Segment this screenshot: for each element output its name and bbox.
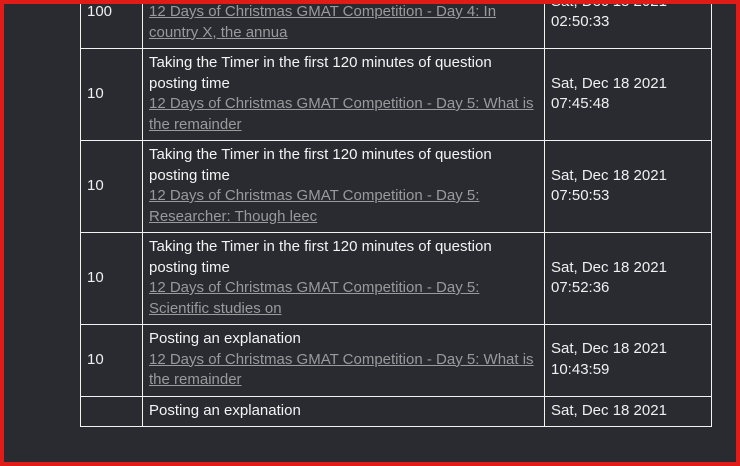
table-row: 10 Taking the Timer in the first 120 min…	[81, 233, 712, 325]
date-line-time: 07:45:48	[551, 94, 705, 115]
points-history-table-body: 4: The consumption of oil 02:40:00 100 G…	[81, 4, 712, 427]
cell-activity: Taking the Timer in the first 120 minute…	[143, 49, 545, 141]
activity-title: Taking the Timer in the first 120 minute…	[149, 53, 538, 94]
date-line-primary: Sat, Dec 18 2021	[551, 166, 705, 187]
points-history-table: 4: The consumption of oil 02:40:00 100 G…	[80, 4, 712, 427]
cell-activity: Taking the Timer in the first 120 minute…	[143, 141, 545, 233]
cell-points: 10	[81, 141, 143, 233]
date-line-primary: Sat, Dec 18 2021	[551, 339, 705, 360]
cell-activity: Posting an explanation	[143, 396, 545, 427]
activity-title: Taking the Timer in the first 120 minute…	[149, 237, 538, 278]
date-line-time: 07:52:36	[551, 278, 705, 299]
cell-date: Sat, Dec 18 2021 10:43:59	[545, 325, 712, 397]
activity-title: Posting an explanation	[149, 401, 538, 422]
date-line-time: 10:43:59	[551, 360, 705, 381]
date-line-primary: Sat, Dec 18 2021	[551, 258, 705, 279]
cell-activity: Getting a Kudos from a moderator 12 Days…	[143, 4, 545, 49]
table-row: 10 Taking the Timer in the first 120 min…	[81, 141, 712, 233]
cell-points: 10	[81, 233, 143, 325]
date-line-primary: Sat, Dec 18 2021	[551, 4, 705, 12]
cell-date: Sat, Dec 18 2021	[545, 396, 712, 427]
activity-link[interactable]: 12 Days of Christmas GMAT Competition - …	[149, 186, 538, 227]
date-line-primary: Sat, Dec 18 2021	[551, 401, 705, 422]
cell-date: Sat, Dec 18 2021 02:50:33	[545, 4, 712, 49]
activity-link[interactable]: 12 Days of Christmas GMAT Competition - …	[149, 350, 538, 391]
cell-points: 100	[81, 4, 143, 49]
date-line-time: 02:50:33	[551, 12, 705, 33]
cell-date: Sat, Dec 18 2021 07:45:48	[545, 49, 712, 141]
activity-title: Taking the Timer in the first 120 minute…	[149, 145, 538, 186]
page-content: 4: The consumption of oil 02:40:00 100 G…	[4, 4, 736, 462]
date-line-time: 07:50:53	[551, 186, 705, 207]
cell-date: Sat, Dec 18 2021 07:52:36	[545, 233, 712, 325]
cell-points: 10	[81, 49, 143, 141]
cell-date: Sat, Dec 18 2021 07:50:53	[545, 141, 712, 233]
activity-link[interactable]: 12 Days of Christmas GMAT Competition - …	[149, 4, 538, 43]
points-history-container: 4: The consumption of oil 02:40:00 100 G…	[80, 4, 711, 427]
table-row: 10 Taking the Timer in the first 120 min…	[81, 49, 712, 141]
cell-points	[81, 396, 143, 427]
cell-activity: Posting an explanation 12 Days of Christ…	[143, 325, 545, 397]
browser-viewport: 4: The consumption of oil 02:40:00 100 G…	[0, 0, 740, 466]
activity-title: Posting an explanation	[149, 329, 538, 350]
table-row: Posting an explanation Sat, Dec 18 2021	[81, 396, 712, 427]
table-row: 100 Getting a Kudos from a moderator 12 …	[81, 4, 712, 49]
activity-link[interactable]: 12 Days of Christmas GMAT Competition - …	[149, 278, 538, 319]
cell-points: 10	[81, 325, 143, 397]
table-row: 10 Posting an explanation 12 Days of Chr…	[81, 325, 712, 397]
cell-activity: Taking the Timer in the first 120 minute…	[143, 233, 545, 325]
date-line-primary: Sat, Dec 18 2021	[551, 74, 705, 95]
activity-link[interactable]: 12 Days of Christmas GMAT Competition - …	[149, 94, 538, 135]
